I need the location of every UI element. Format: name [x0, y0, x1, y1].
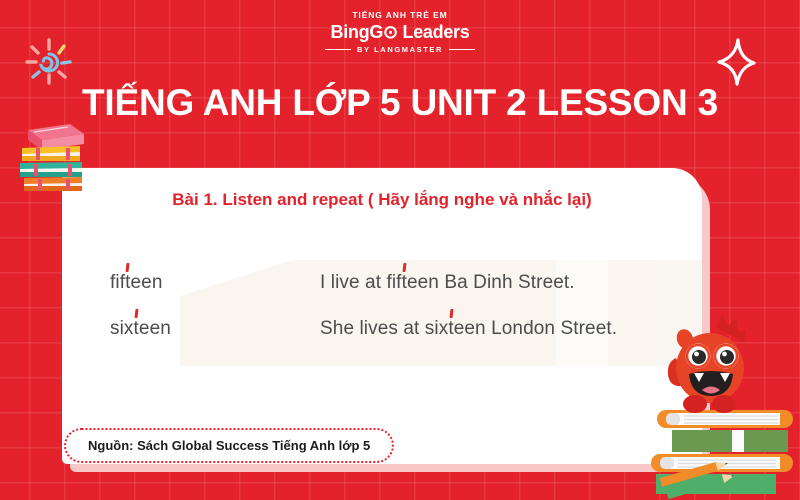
vocab-sentence-2-post: een London Street. — [454, 318, 617, 339]
brand-logo: TIẾNG ANH TRẺ EM BingG⊙ Leaders BY LANGM… — [0, 11, 800, 53]
vocab-word-1-pre: fif — [110, 272, 125, 293]
vocab-sentence-2-stress: t — [448, 318, 453, 340]
brand-byline: BY LANGMASTER — [357, 46, 443, 54]
exercise-subtitle: Bài 1. Listen and repeat ( Hãy lắng nghe… — [62, 190, 702, 210]
vocab-word-1: fifteen — [110, 272, 163, 294]
brand-rule-right — [449, 49, 475, 51]
brand-wordmark: BingG⊙ Leaders — [0, 23, 800, 41]
vocab-sentence-1: I live at fifteen Ba Dinh Street. — [320, 272, 575, 294]
brand-byline-row: BY LANGMASTER — [0, 46, 800, 54]
brand-wordmark-o-icon: ⊙ — [383, 23, 398, 41]
monster-mascot-icon — [658, 312, 758, 416]
sparkle-icon — [714, 36, 758, 88]
vocab-word-2: sixteen — [110, 318, 171, 340]
vocab-word-2-stress: t — [134, 318, 139, 340]
spiral-doodle-icon — [18, 32, 80, 90]
source-badge: Nguồn: Sách Global Success Tiếng Anh lớp… — [64, 428, 394, 463]
vocab-word-1-stress: t — [125, 272, 130, 294]
brand-kicker: TIẾNG ANH TRẺ EM — [0, 11, 800, 20]
page-title: TIẾNG ANH LỚP 5 UNIT 2 LESSON 3 — [0, 82, 800, 124]
vocab-word-2-pre: six — [110, 318, 134, 339]
brand-rule-left — [325, 49, 351, 51]
content-card: Bài 1. Listen and repeat ( Hãy lắng nghe… — [62, 168, 702, 464]
vocab-sentence-1-post: een Ba Dinh Street. — [407, 272, 575, 293]
brand-wordmark-part2: Leaders — [398, 22, 470, 42]
textbook-excerpt: fifteen I live at fifteen Ba Dinh Street… — [62, 246, 702, 378]
vocab-word-1-post: een — [130, 272, 162, 293]
vocab-sentence-1-stress: t — [402, 272, 407, 294]
vocab-sentence-1-pre: I live at fif — [320, 272, 402, 293]
vocab-word-2-post: een — [139, 318, 171, 339]
brand-wordmark-part1: BingG — [331, 22, 384, 42]
vocab-sentence-2-pre: She lives at six — [320, 318, 448, 339]
vocab-sentence-2: She lives at sixteen London Street. — [320, 318, 617, 340]
book-stack-icon — [8, 118, 90, 196]
